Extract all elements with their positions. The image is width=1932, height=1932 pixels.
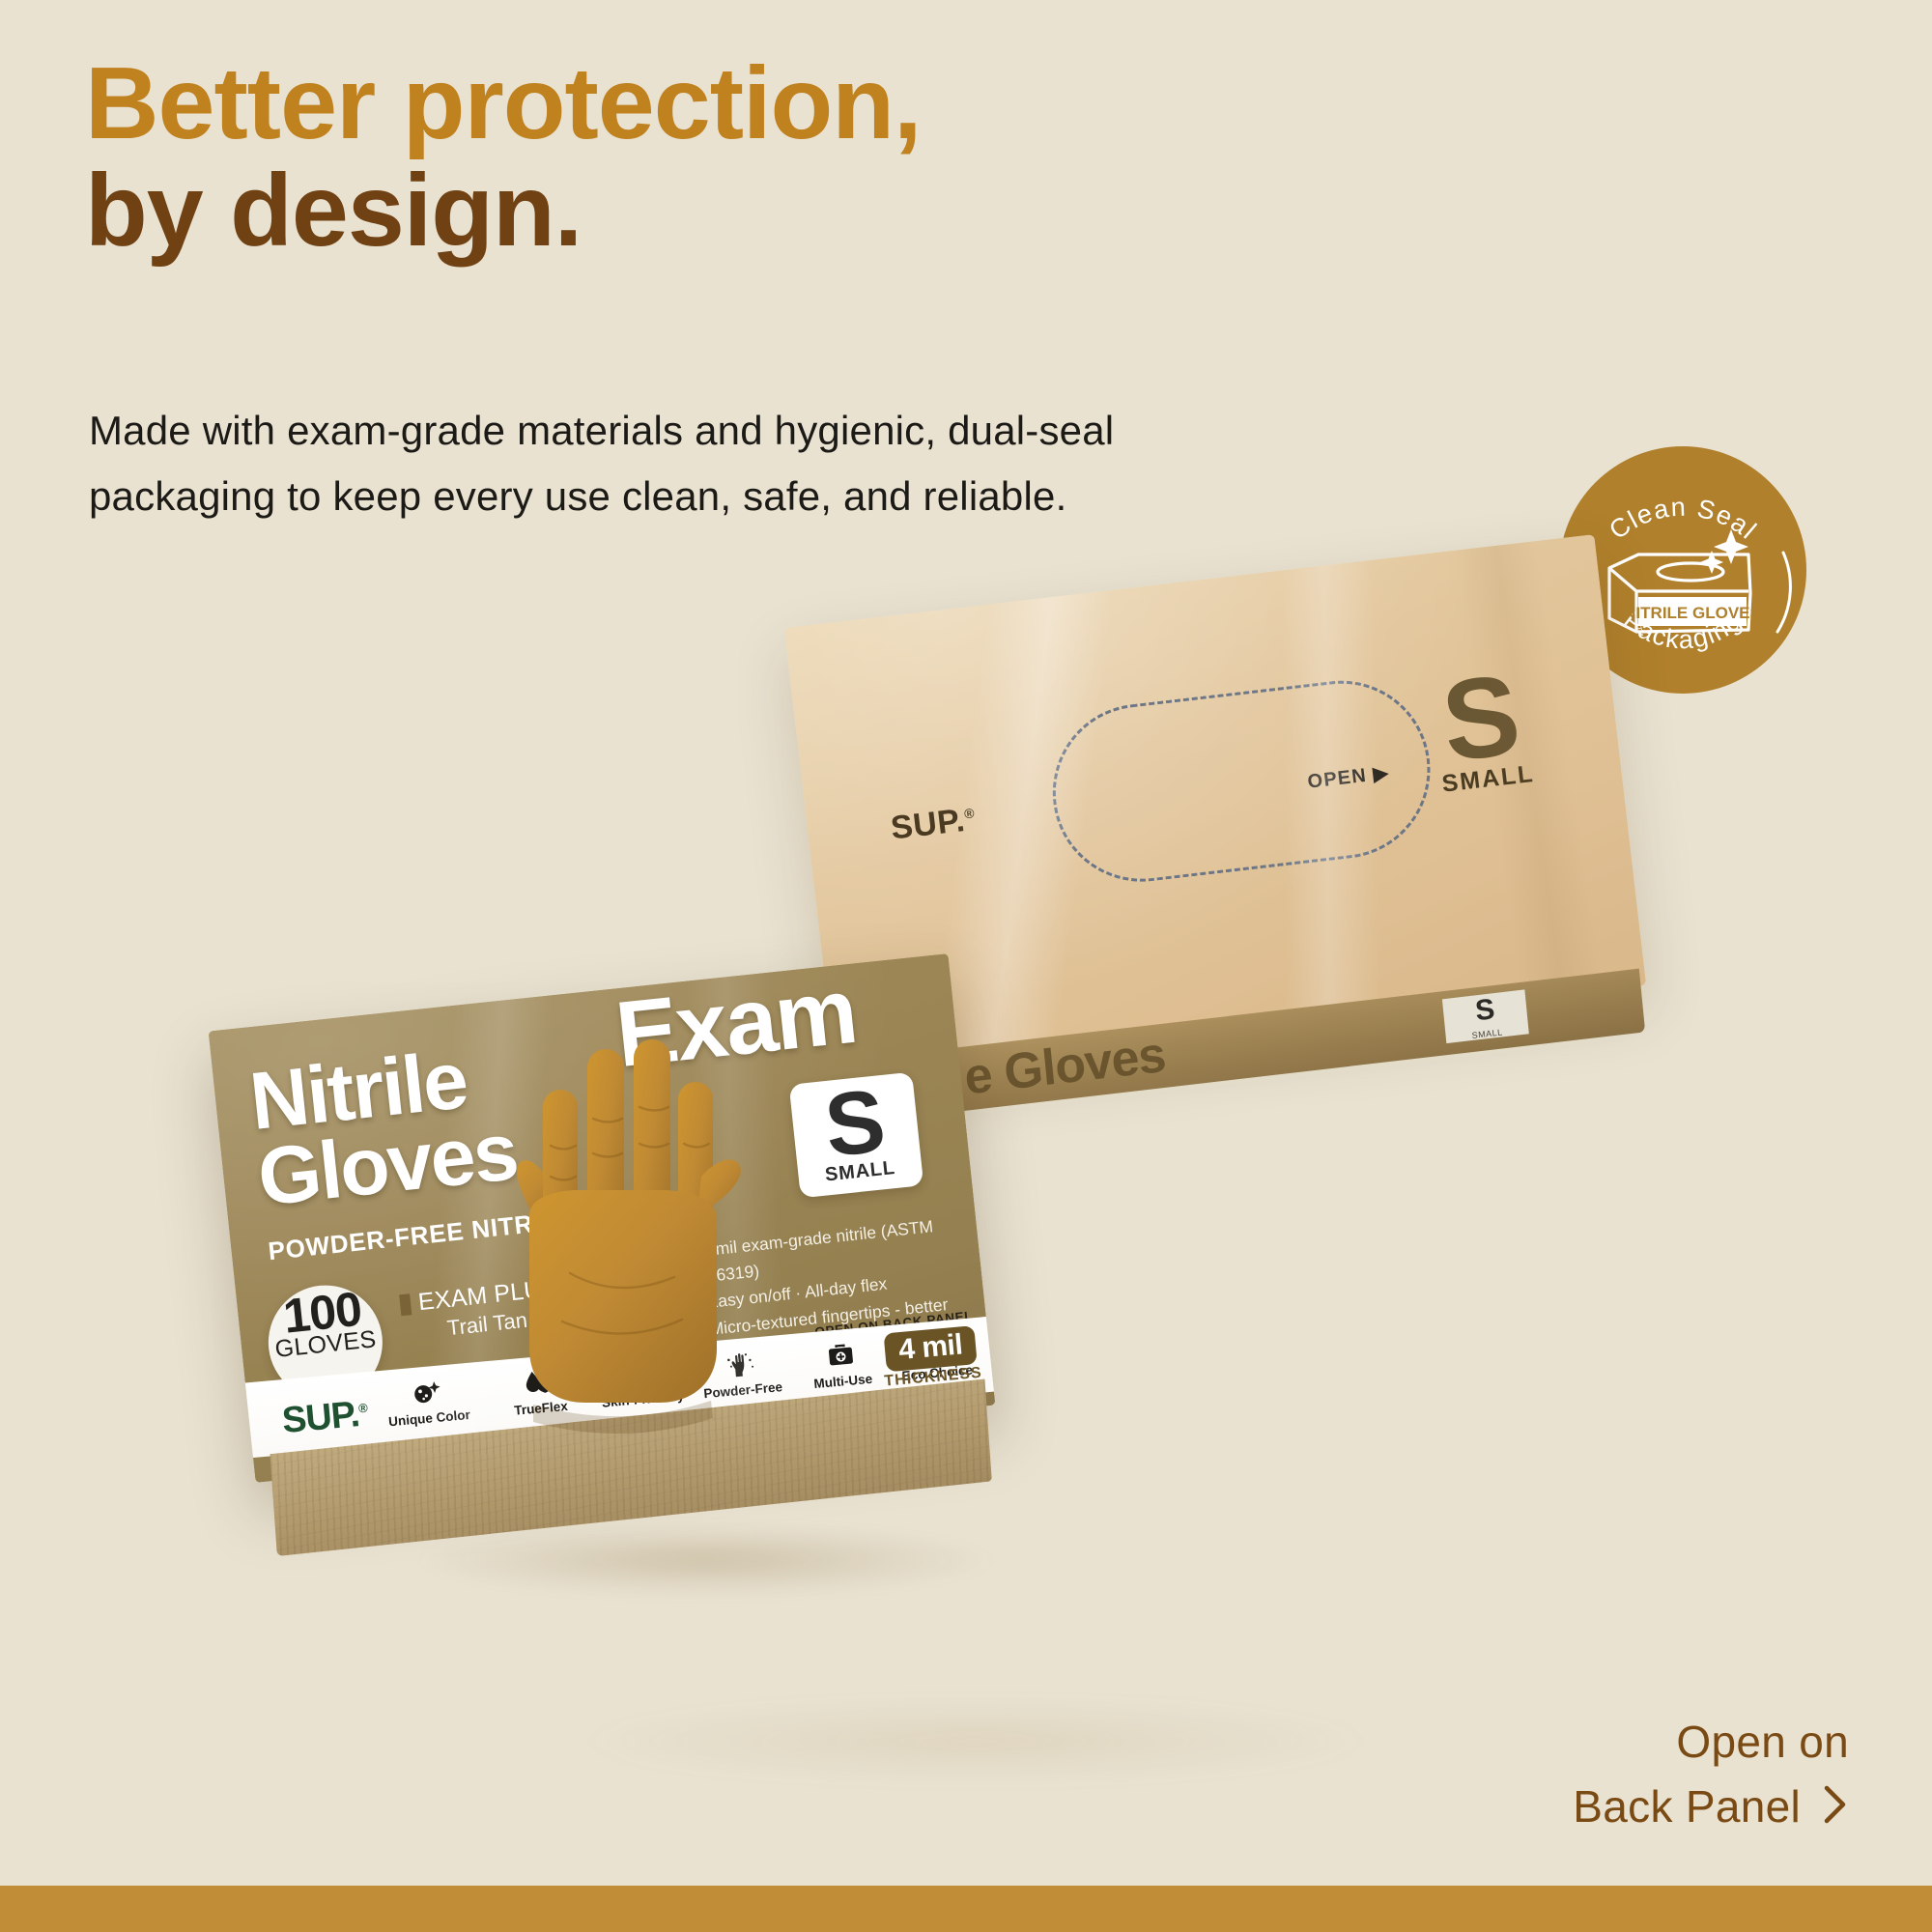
bottom-accent-bar bbox=[0, 1886, 1932, 1932]
front-brand-mark: ® bbox=[357, 1401, 367, 1416]
back-box-size-letter: S bbox=[1430, 668, 1533, 771]
cta-line-1: Open on bbox=[1573, 1710, 1849, 1775]
open-arrow-icon: ▶ bbox=[1372, 762, 1390, 785]
headline-line-1: Better protection, bbox=[85, 50, 1341, 157]
front-box-brand: SUP.® bbox=[280, 1393, 369, 1442]
page-title: Better protection, by design. bbox=[85, 50, 1341, 266]
subheadline: Made with exam-grade materials and hygie… bbox=[89, 398, 1180, 529]
cta-line-2-wrap: Back Panel bbox=[1573, 1775, 1849, 1843]
feature-multi-use: Multi-Use bbox=[789, 1335, 894, 1393]
feature-unique-color: Unique Color bbox=[376, 1372, 480, 1430]
chevron-right-icon[interactable] bbox=[1822, 1778, 1849, 1843]
headline-line-2: by design. bbox=[85, 157, 1341, 265]
back-box-edge-size-chip: S SMALL bbox=[1442, 989, 1529, 1043]
subheadline-line-1: Made with exam-grade materials and hygie… bbox=[89, 398, 1180, 464]
promo-canvas: Better protection, by design. Made with … bbox=[0, 0, 1932, 1932]
badge-box-label: NITRILE GLOVES bbox=[1624, 604, 1761, 622]
front-box-size-chip: S SMALL bbox=[789, 1072, 924, 1199]
back-box-brand-mark: ® bbox=[963, 805, 976, 821]
svg-text:Clean Seal: Clean Seal bbox=[1604, 493, 1762, 546]
variant-swatch bbox=[399, 1293, 412, 1316]
back-box-size-mark: S SMALL bbox=[1430, 668, 1536, 799]
edge-chip-word: SMALL bbox=[1471, 1027, 1503, 1040]
subheadline-line-2: packaging to keep every use clean, safe,… bbox=[89, 464, 1180, 529]
back-box-brand-text: SUP. bbox=[889, 802, 967, 847]
nitrile-glove-image bbox=[473, 1032, 763, 1476]
thickness-value: 4 mil bbox=[884, 1325, 978, 1372]
cta-line-2: Back Panel bbox=[1573, 1781, 1801, 1832]
soft-ground-shadow bbox=[406, 1683, 1546, 1799]
edge-chip-letter: S bbox=[1442, 991, 1527, 1030]
badge-top-arc-text: Clean Seal bbox=[1604, 493, 1762, 546]
back-box-brand: SUP.® bbox=[889, 801, 978, 848]
open-on-back-panel-cta[interactable]: Open on Back Panel bbox=[1573, 1710, 1849, 1842]
front-brand-text: SUP. bbox=[280, 1394, 360, 1441]
